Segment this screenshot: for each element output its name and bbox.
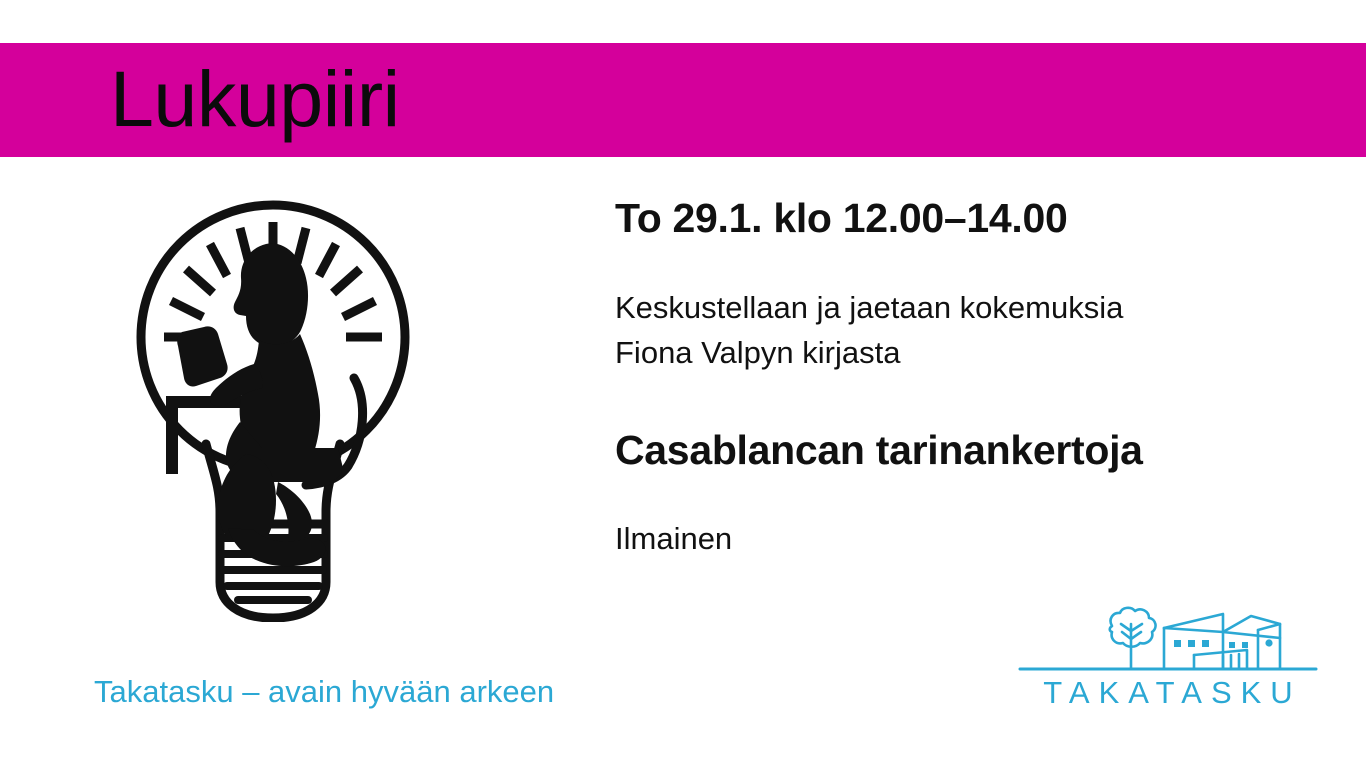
poster-slide: Lukupiiri <box>0 0 1366 768</box>
takatasku-wordmark: TAKATASKU <box>1018 676 1318 710</box>
title-banner: Lukupiiri <box>0 43 1366 157</box>
event-description: Keskustellaan ja jaetaan kokemuksia Fion… <box>615 286 1315 376</box>
event-description-line-2: Fiona Valpyn kirjasta <box>615 331 1315 376</box>
event-description-line-1: Keskustellaan ja jaetaan kokemuksia <box>615 286 1315 331</box>
event-datetime: To 29.1. klo 12.00–14.00 <box>615 196 1315 242</box>
book-title: Casablancan tarinankertoja <box>615 428 1315 474</box>
takatasku-logo: TAKATASKU <box>1018 602 1318 722</box>
page-title: Lukupiiri <box>110 59 400 138</box>
slogan-text: Takatasku – avain hyvään arkeen <box>94 673 554 710</box>
lightbulb-person-reading-icon <box>128 182 418 622</box>
takatasku-tree-and-building-icon <box>1018 602 1318 678</box>
event-price: Ilmainen <box>615 520 1315 557</box>
event-details: To 29.1. klo 12.00–14.00 Keskustellaan j… <box>615 196 1315 557</box>
